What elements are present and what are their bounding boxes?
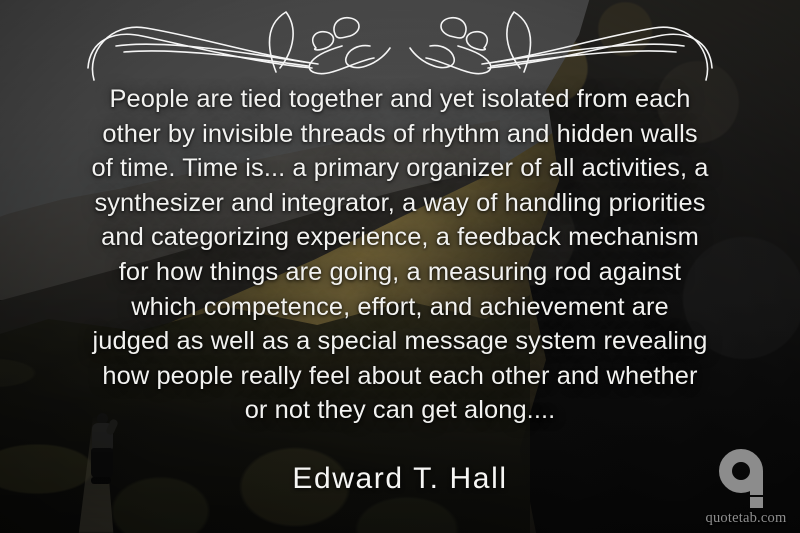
site-url-label: quotetab.com xyxy=(706,510,787,527)
q-dot xyxy=(750,497,763,508)
quote-text: People are tied together and yet isolate… xyxy=(26,82,774,428)
quote-card: People are tied together and yet isolate… xyxy=(0,0,800,533)
flourish-ornament-icon xyxy=(80,6,720,84)
quotetab-q-icon xyxy=(719,449,773,507)
q-stem xyxy=(750,471,763,495)
quote-author: Edward T. Hall xyxy=(0,462,800,496)
quotetab-logo[interactable]: quotetab.com xyxy=(700,441,792,527)
